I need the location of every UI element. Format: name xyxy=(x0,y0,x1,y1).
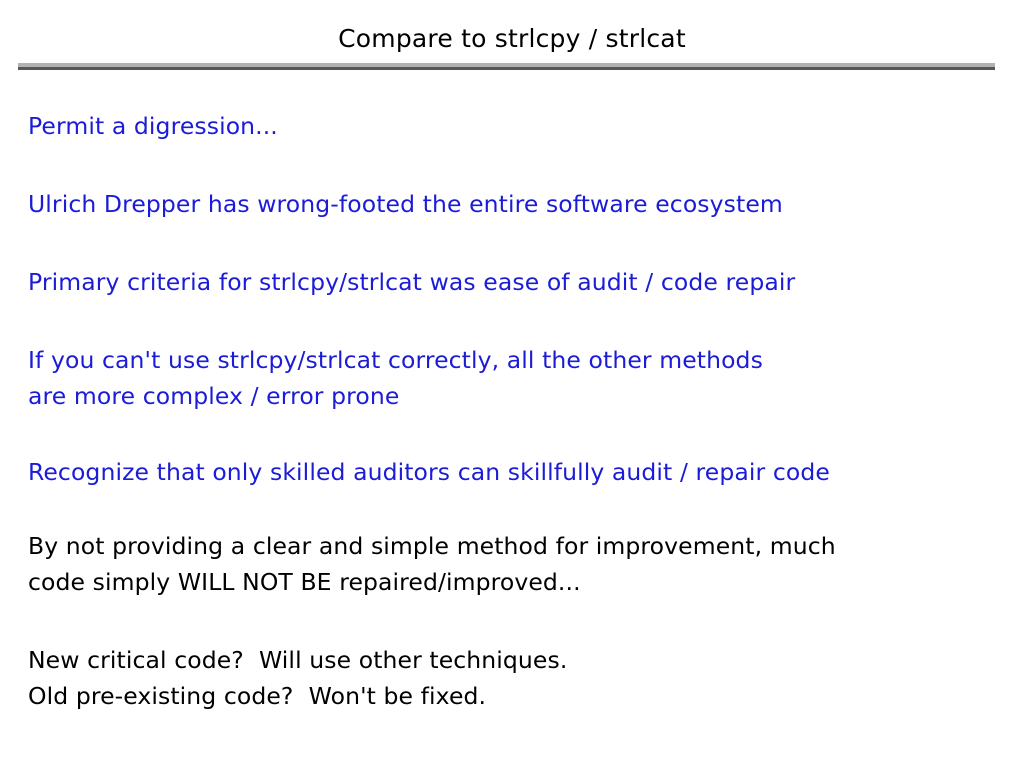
paragraph-spacer xyxy=(28,144,998,186)
paragraph-spacer xyxy=(28,600,998,642)
bullet-no-clear-method: By not providing a clear and simple meth… xyxy=(28,528,998,600)
bullet-cant-use-correctly: If you can't use strlcpy/strlcat correct… xyxy=(28,342,998,414)
slide-body: Permit a digression... Ulrich Drepper ha… xyxy=(28,108,998,714)
bullet-primary-criteria: Primary criteria for strlcpy/strlcat was… xyxy=(28,264,998,300)
paragraph-spacer xyxy=(28,490,998,528)
bullet-permit-a-digression: Permit a digression... xyxy=(28,108,998,144)
divider-dark-band xyxy=(18,67,995,70)
bullet-skilled-auditors: Recognize that only skilled auditors can… xyxy=(28,454,998,490)
presentation-slide: Compare to strlcpy / strlcat Permit a di… xyxy=(0,0,1024,768)
paragraph-spacer xyxy=(28,300,998,342)
title-divider-rule xyxy=(18,63,995,70)
bullet-ulrich-drepper: Ulrich Drepper has wrong-footed the enti… xyxy=(28,186,998,222)
paragraph-spacer xyxy=(28,414,998,454)
paragraph-spacer xyxy=(28,222,998,264)
bullet-new-vs-old-code: New critical code? Will use other techni… xyxy=(28,642,998,714)
slide-title: Compare to strlcpy / strlcat xyxy=(0,24,1024,54)
